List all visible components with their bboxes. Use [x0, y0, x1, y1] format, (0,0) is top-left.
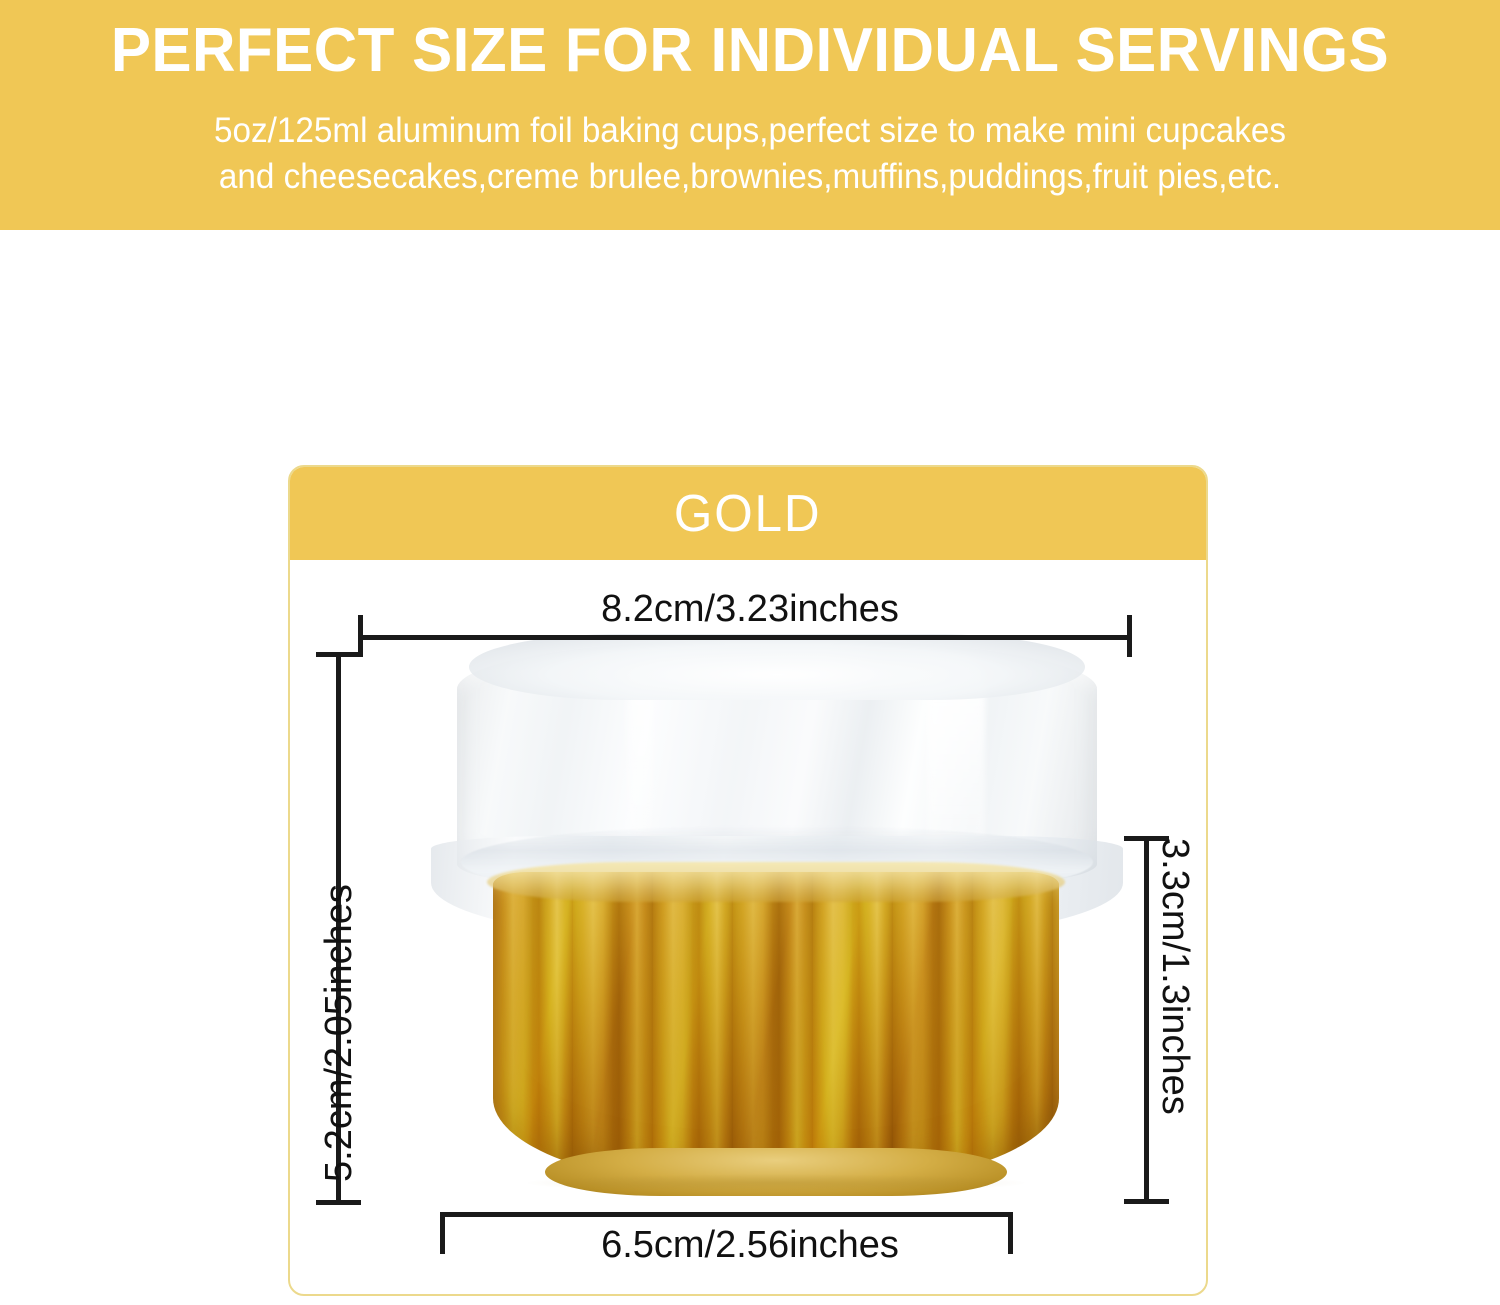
dimension-label-left-height: 5.2cm/2.05inches — [318, 884, 361, 1182]
gold-foil-cup-body — [493, 872, 1059, 1186]
header-subtitle-line-2: and cheesecakes,creme brulee,brownies,mu… — [95, 154, 1406, 200]
dimension-tick-left-bottom — [316, 1200, 361, 1205]
dimension-tick-top-left — [358, 615, 363, 657]
dimension-tick-right-bottom — [1124, 1199, 1169, 1204]
cup-drop-shadow — [527, 1174, 1025, 1192]
product-infographic: PERFECT SIZE FOR INDIVIDUAL SERVINGS 5oz… — [0, 0, 1500, 1305]
header-subtitle-line-1: 5oz/125ml aluminum foil baking cups,perf… — [95, 108, 1406, 154]
dimension-line-top — [358, 635, 1132, 640]
lid-top-surface — [469, 634, 1085, 700]
header-banner: PERFECT SIZE FOR INDIVIDUAL SERVINGS 5oz… — [0, 0, 1500, 230]
foil-sheen-overlay — [493, 872, 1059, 1186]
dimension-tick-left-top — [316, 652, 361, 657]
dimension-label-top-width: 8.2cm/3.23inches — [0, 588, 1500, 631]
dimension-label-right-height: 3.3cm/1.3inches — [1153, 838, 1196, 1115]
product-photo — [290, 560, 1206, 1296]
header-subtitle: 5oz/125ml aluminum foil baking cups,perf… — [95, 108, 1406, 200]
dimension-line-right — [1144, 836, 1149, 1204]
product-variant-header: GOLD — [290, 467, 1206, 560]
dimension-line-bottom — [440, 1212, 1013, 1217]
cup-rim — [487, 862, 1065, 902]
product-variant-label: GOLD — [674, 484, 822, 544]
page-title: PERFECT SIZE FOR INDIVIDUAL SERVINGS — [23, 14, 1478, 88]
dimension-tick-top-right — [1127, 615, 1132, 657]
baking-cup-illustration — [395, 640, 1155, 1200]
dimension-label-bottom-width: 6.5cm/2.56inches — [0, 1224, 1500, 1267]
